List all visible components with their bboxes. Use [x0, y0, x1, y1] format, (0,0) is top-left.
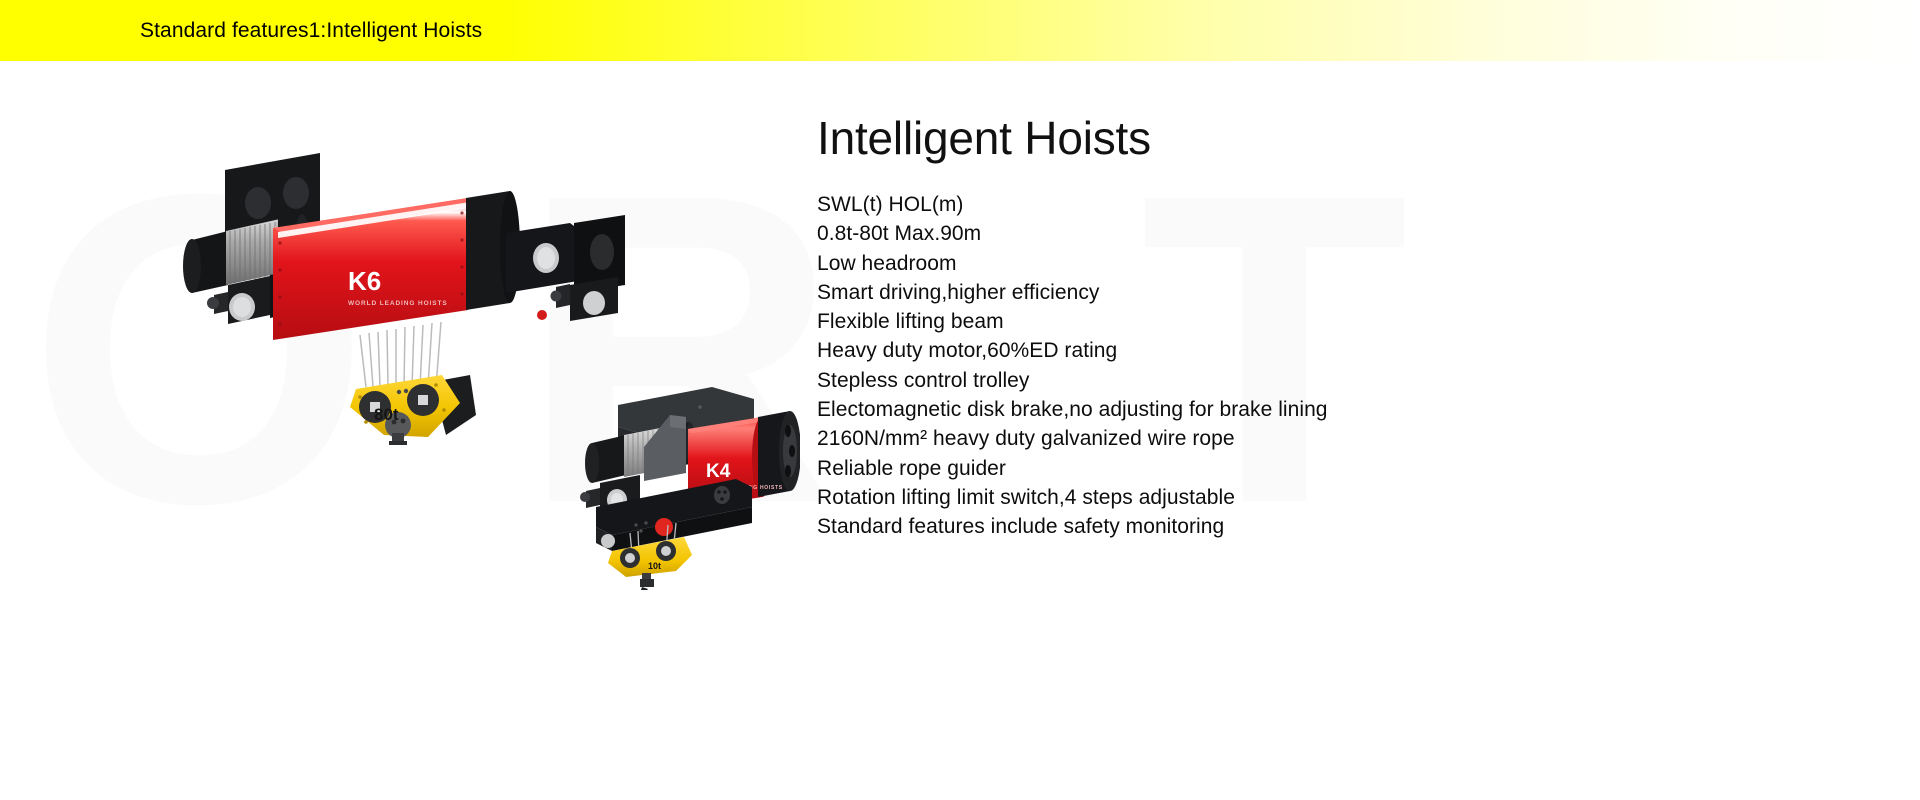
- product-tagline-k6: WORLD LEADING HOISTS: [348, 300, 448, 307]
- spec-item: 2160N/mm² heavy duty galvanized wire rop…: [817, 424, 1557, 453]
- spec-item: SWL(t) HOL(m): [817, 190, 1557, 219]
- page-title: Intelligent Hoists: [817, 110, 1557, 166]
- watermark-letter-o: O: [28, 130, 370, 570]
- spec-item: Flexible lifting beam: [817, 307, 1557, 336]
- hook-block-label-k6: 80t: [374, 405, 399, 424]
- hook-block-label-k4: 10t: [648, 561, 661, 571]
- spec-item: Smart driving,higher efficiency: [817, 278, 1557, 307]
- spec-item: Low headroom: [817, 249, 1557, 278]
- spec-item: Reliable rope guider: [817, 454, 1557, 483]
- slide-root: Standard features1:Intelligent Hoists O …: [0, 0, 1920, 800]
- product-model-label-k4: K4: [706, 461, 731, 482]
- spec-item: 0.8t-80t Max.90m: [817, 219, 1557, 248]
- spec-item: Heavy duty motor,60%ED rating: [817, 336, 1557, 365]
- spec-item: Rotation lifting limit switch,4 steps ad…: [817, 483, 1557, 512]
- spec-item: Standard features include safety monitor…: [817, 512, 1557, 541]
- specification-list: SWL(t) HOL(m) 0.8t-80t Max.90m Low headr…: [817, 190, 1557, 542]
- product-tagline-k4: WORLD LEADING HOISTS: [706, 485, 783, 491]
- watermark-letter-r: R: [520, 130, 838, 570]
- product-image-k6: K6 WORLD LEADING HOISTS: [170, 135, 640, 445]
- content-column: Intelligent Hoists SWL(t) HOL(m) 0.8t-80…: [817, 110, 1557, 542]
- product-image-k4: K4 WORLD LEADING HOISTS: [500, 355, 800, 590]
- spec-item: Stepless control trolley: [817, 366, 1557, 395]
- header-banner-title: Standard features1:Intelligent Hoists: [140, 0, 482, 61]
- spec-item: Electomagnetic disk brake,no adjusting f…: [817, 395, 1557, 424]
- header-banner: Standard features1:Intelligent Hoists: [0, 0, 1920, 61]
- product-model-label-k6: K6: [348, 266, 381, 296]
